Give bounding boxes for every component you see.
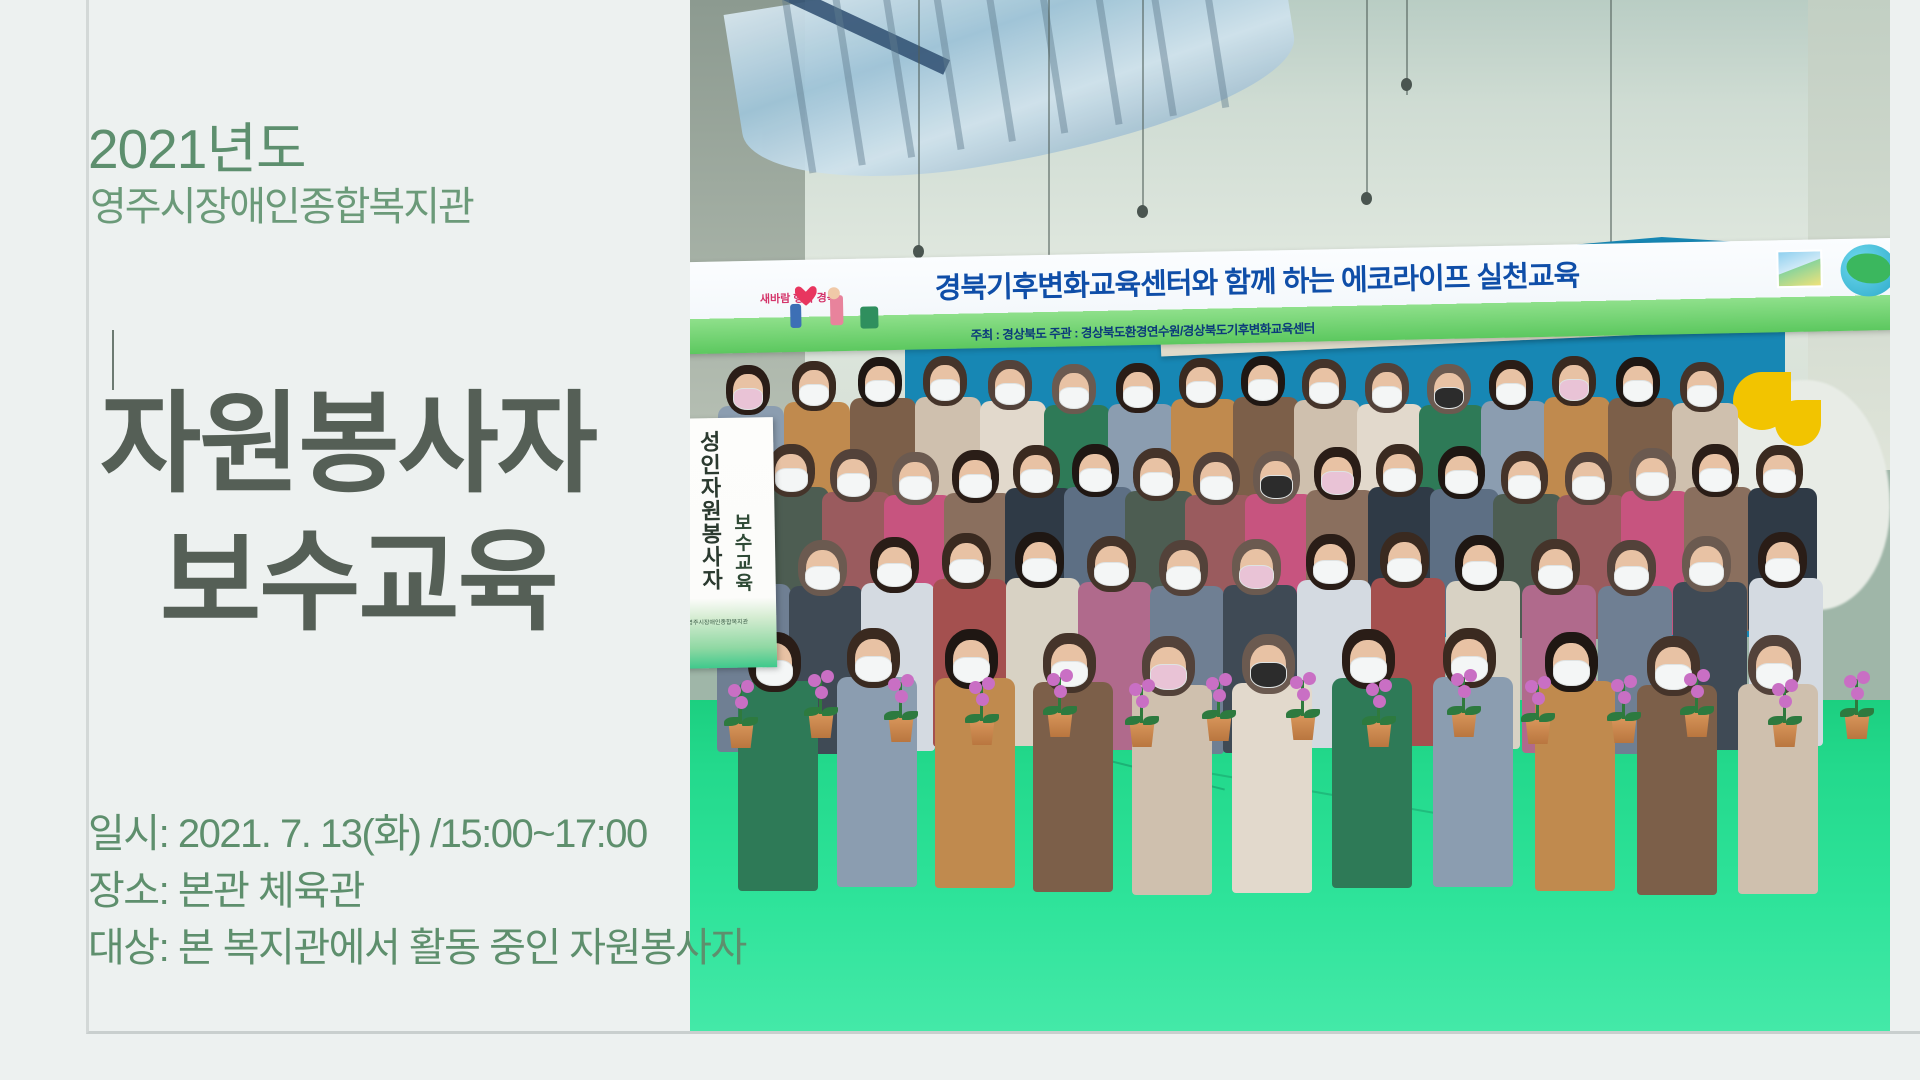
face-mask-icon bbox=[1260, 475, 1293, 498]
face-mask-icon bbox=[1508, 475, 1541, 498]
orchid-pot bbox=[1523, 674, 1555, 744]
face-mask-icon bbox=[1623, 380, 1654, 402]
face-mask-icon bbox=[949, 559, 983, 584]
banner-main-text: 경북기후변화교육센터와 함께 하는 에코라이프 실천교육 bbox=[934, 252, 1579, 307]
face-mask-icon bbox=[1239, 565, 1273, 590]
rollup-logo-text: 영주시장애인종합복지관 bbox=[690, 617, 748, 627]
event-details: 일시: 2021. 7. 13(화) /15:00~17:00 장소: 본관 체… bbox=[88, 806, 1018, 976]
face-mask-icon bbox=[1383, 468, 1416, 491]
face-mask-icon bbox=[837, 473, 870, 496]
face-mask-icon bbox=[1313, 560, 1347, 585]
face-mask-icon bbox=[1079, 468, 1112, 491]
face-mask-icon bbox=[930, 379, 961, 401]
face-mask-icon bbox=[1321, 471, 1354, 494]
detail-datetime: 일시: 2021. 7. 13(화) /15:00~17:00 bbox=[88, 806, 1018, 863]
year-kicker: 2021년도 bbox=[88, 104, 306, 184]
rollup-banner: 성인자원봉사자 보수교육 영주시장애인종합복지관 bbox=[690, 417, 777, 669]
orchid-pot bbox=[1364, 677, 1396, 747]
orchid-pot bbox=[1842, 669, 1874, 739]
face-mask-icon bbox=[1445, 470, 1478, 493]
face-mask-icon bbox=[1123, 386, 1154, 408]
face-mask-icon bbox=[899, 476, 932, 499]
face-mask-icon bbox=[995, 383, 1026, 405]
face-mask-icon bbox=[1538, 565, 1572, 590]
globe-icon bbox=[1840, 244, 1890, 297]
face-mask-icon bbox=[1059, 387, 1090, 409]
face-mask-icon bbox=[1140, 472, 1173, 495]
face-mask-icon bbox=[799, 384, 830, 406]
face-mask-icon bbox=[1166, 566, 1200, 591]
face-mask-icon bbox=[1250, 662, 1287, 688]
face-mask-icon bbox=[1200, 476, 1233, 499]
face-mask-icon bbox=[1372, 386, 1403, 408]
face-mask-icon bbox=[733, 388, 764, 410]
orchid-pot bbox=[1682, 667, 1714, 737]
face-mask-icon bbox=[1699, 468, 1732, 491]
face-mask-icon bbox=[959, 474, 992, 497]
face-mask-icon bbox=[1572, 476, 1605, 499]
orchid-pot bbox=[1770, 677, 1802, 747]
orchid-pot bbox=[1127, 677, 1159, 747]
face-mask-icon bbox=[1763, 469, 1796, 492]
face-mask-icon bbox=[1689, 562, 1723, 587]
face-mask-icon bbox=[1614, 566, 1648, 591]
orchid-pot bbox=[726, 678, 758, 748]
face-mask-icon bbox=[1462, 561, 1496, 586]
orchid-pot bbox=[1609, 673, 1641, 743]
face-mask-icon bbox=[877, 563, 911, 588]
poster-canvas: 새바람 행복 경북! 경북기후변화교육센터와 함께 하는 에코라이프 실천교육 … bbox=[0, 0, 1920, 1080]
face-mask-icon bbox=[1022, 558, 1056, 583]
page-title-line2: 보수교육 bbox=[160, 528, 557, 638]
orchid-pot bbox=[806, 668, 838, 738]
face-mask-icon bbox=[775, 468, 808, 491]
face-mask-icon bbox=[1559, 379, 1590, 401]
orchid-pot bbox=[1449, 667, 1481, 737]
divider-rule bbox=[112, 330, 114, 390]
landscape-icon bbox=[1776, 249, 1823, 288]
orchid-pot bbox=[1045, 667, 1077, 737]
face-mask-icon bbox=[1186, 381, 1217, 403]
face-mask-icon bbox=[1687, 385, 1718, 407]
detail-audience: 대상: 본 복지관에서 활동 중인 자원봉사자 bbox=[88, 920, 1018, 977]
face-mask-icon bbox=[1248, 379, 1279, 401]
organization: 영주시장애인종합복지관 bbox=[90, 174, 473, 232]
face-mask-icon bbox=[865, 380, 896, 402]
orchid-pot bbox=[886, 672, 918, 742]
face-mask-icon bbox=[1309, 382, 1340, 404]
detail-location: 장소: 본관 체육관 bbox=[88, 863, 1018, 920]
banner-sub-text: 주최 : 경상북도 주관 : 경상북도환경연수원/경상북도기후변화교육센터 bbox=[971, 318, 1315, 344]
rollup-line2: 보수교육 bbox=[727, 512, 755, 592]
orchid-pot bbox=[1204, 671, 1236, 741]
face-mask-icon bbox=[1553, 660, 1590, 686]
orchid-pot bbox=[967, 675, 999, 745]
face-mask-icon bbox=[805, 566, 839, 591]
face-mask-icon bbox=[1496, 383, 1527, 405]
orchid-pot bbox=[1288, 670, 1320, 740]
face-mask-icon bbox=[1434, 387, 1465, 409]
face-mask-icon bbox=[1765, 558, 1799, 583]
face-mask-icon bbox=[1636, 472, 1669, 495]
face-mask-icon bbox=[1094, 562, 1128, 587]
rollup-line1: 성인자원봉사자 bbox=[692, 430, 727, 592]
page-title-line1: 자원봉사자 bbox=[100, 390, 596, 500]
face-mask-icon bbox=[1387, 558, 1421, 583]
face-mask-icon bbox=[1020, 469, 1053, 492]
